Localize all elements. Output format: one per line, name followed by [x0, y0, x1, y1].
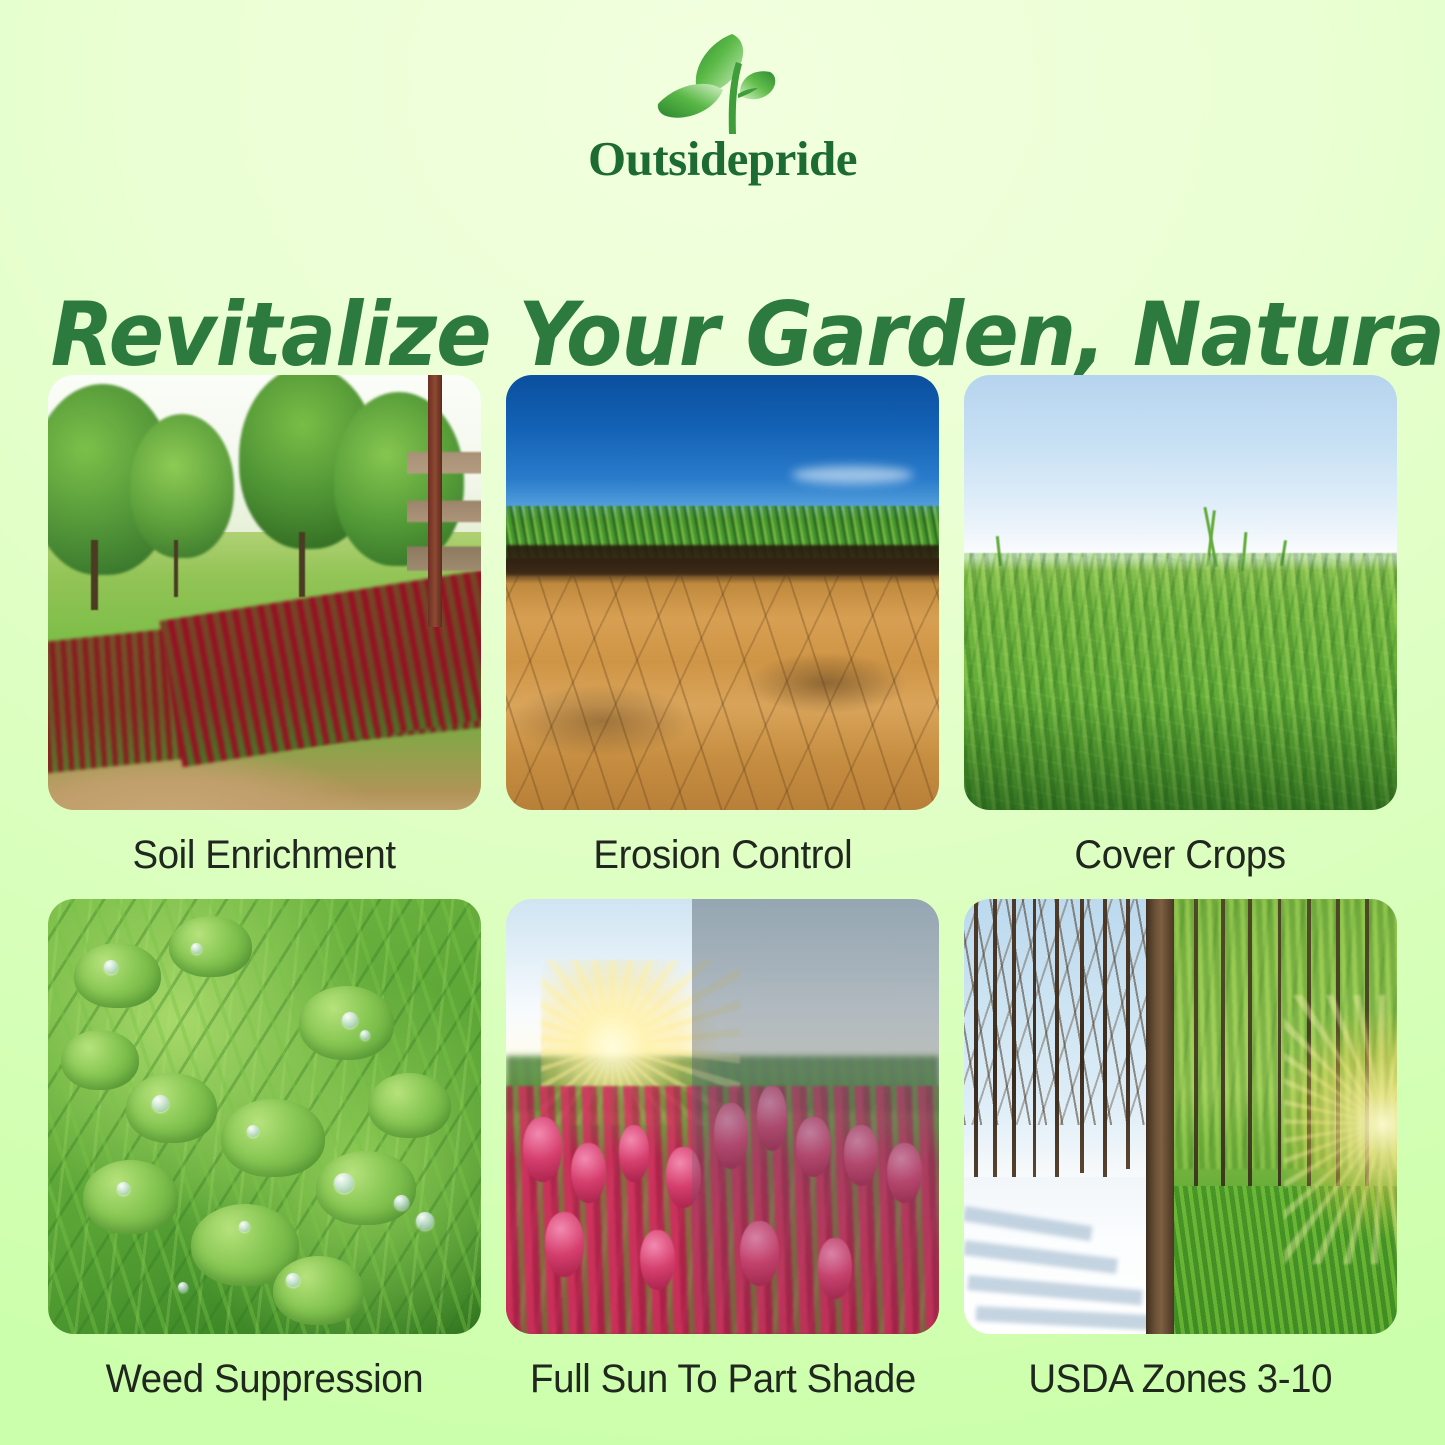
feature-card-full-sun-to-part-shade: Full Sun To Part Shade: [506, 899, 939, 1410]
sprout-leaf-icon: [648, 28, 798, 140]
feature-caption: Cover Crops: [1075, 824, 1286, 886]
page-headline: Revitalize Your Garden, Naturally: [51, 287, 1395, 382]
feature-caption: Weed Suppression: [106, 1348, 424, 1410]
feature-grid: Soil Enrichment Erosion Control Cover Cr…: [48, 375, 1397, 1410]
feature-caption: USDA Zones 3-10: [1029, 1348, 1333, 1410]
feature-caption: Soil Enrichment: [133, 824, 396, 886]
feature-card-usda-zones: USDA Zones 3-10: [964, 899, 1397, 1410]
feature-caption: Erosion Control: [593, 824, 852, 886]
feature-image-usda-zones: [964, 899, 1397, 1334]
product-infographic-poster: Outsidepride Revitalize Your Garden, Nat…: [0, 0, 1445, 1445]
feature-card-soil-enrichment: Soil Enrichment: [48, 375, 481, 886]
brand-logo: Outsidepride: [0, 28, 1445, 203]
brand-wordmark: Outsidepride: [588, 134, 857, 183]
feature-image-erosion-control: [506, 375, 939, 810]
feature-image-weed-suppression: [48, 899, 481, 1334]
feature-image-soil-enrichment: [48, 375, 481, 810]
shade-overlay: [692, 899, 939, 1334]
feature-caption: Full Sun To Part Shade: [530, 1348, 916, 1410]
feature-image-cover-crops: [964, 375, 1397, 810]
feature-card-cover-crops: Cover Crops: [964, 375, 1397, 886]
feature-card-weed-suppression: Weed Suppression: [48, 899, 481, 1410]
feature-card-erosion-control: Erosion Control: [506, 375, 939, 886]
feature-image-full-sun-to-part-shade: [506, 899, 939, 1334]
